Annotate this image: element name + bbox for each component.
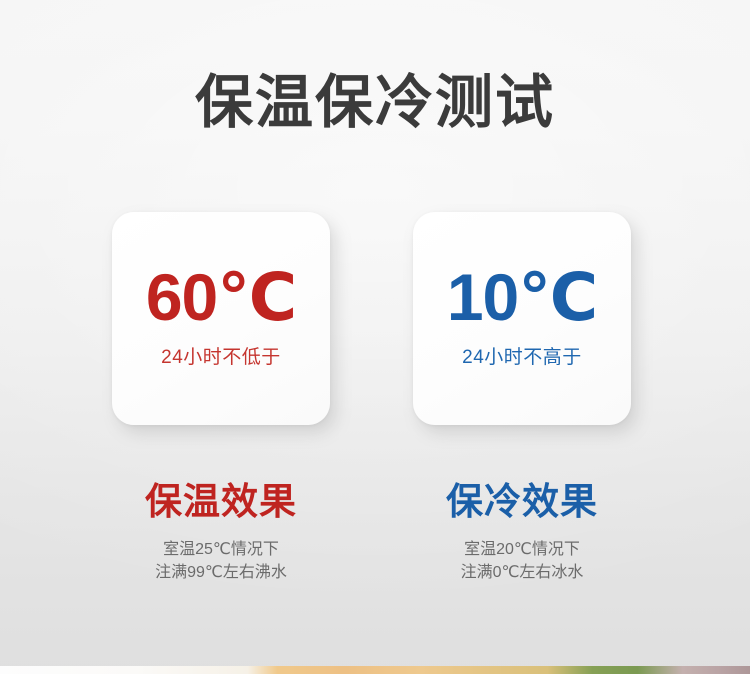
caption-cold-retention: 保冷效果 室温20℃情况下 注满0℃左右冰水 [392,480,652,584]
stat-value-hot: 60℃ [146,263,296,331]
stat-card-hot-retention: 60℃ 24小时不低于 [112,212,330,425]
stat-sublabel-hot: 24小时不低于 [161,347,281,369]
caption-note-hot: 室温25℃情况下 注满99℃左右沸水 [91,538,351,584]
caption-heading-cold: 保冷效果 [392,480,652,524]
caption-hot-retention: 保温效果 室温25℃情况下 注满99℃左右沸水 [91,480,351,584]
caption-note-cold-line2: 注满0℃左右冰水 [392,561,652,584]
caption-note-hot-line2: 注满99℃左右沸水 [91,561,351,584]
next-image-sliver [0,666,750,674]
caption-note-cold-line1: 室温20℃情况下 [392,538,652,561]
caption-heading-hot: 保温效果 [91,480,351,524]
caption-note-cold: 室温20℃情况下 注满0℃左右冰水 [392,538,652,584]
stat-card-cold-retention: 10℃ 24小时不高于 [413,212,631,425]
stat-card-row: 60℃ 24小时不低于 10℃ 24小时不高于 [0,212,750,427]
caption-note-hot-line1: 室温25℃情况下 [91,538,351,561]
product-detail-page: 保温保冷测试 60℃ 24小时不低于 10℃ 24小时不高于 保温效果 室温25… [0,0,750,674]
stat-value-cold: 10℃ [447,263,597,331]
page-title: 保温保冷测试 [0,72,750,134]
stat-sublabel-cold: 24小时不高于 [462,347,582,369]
